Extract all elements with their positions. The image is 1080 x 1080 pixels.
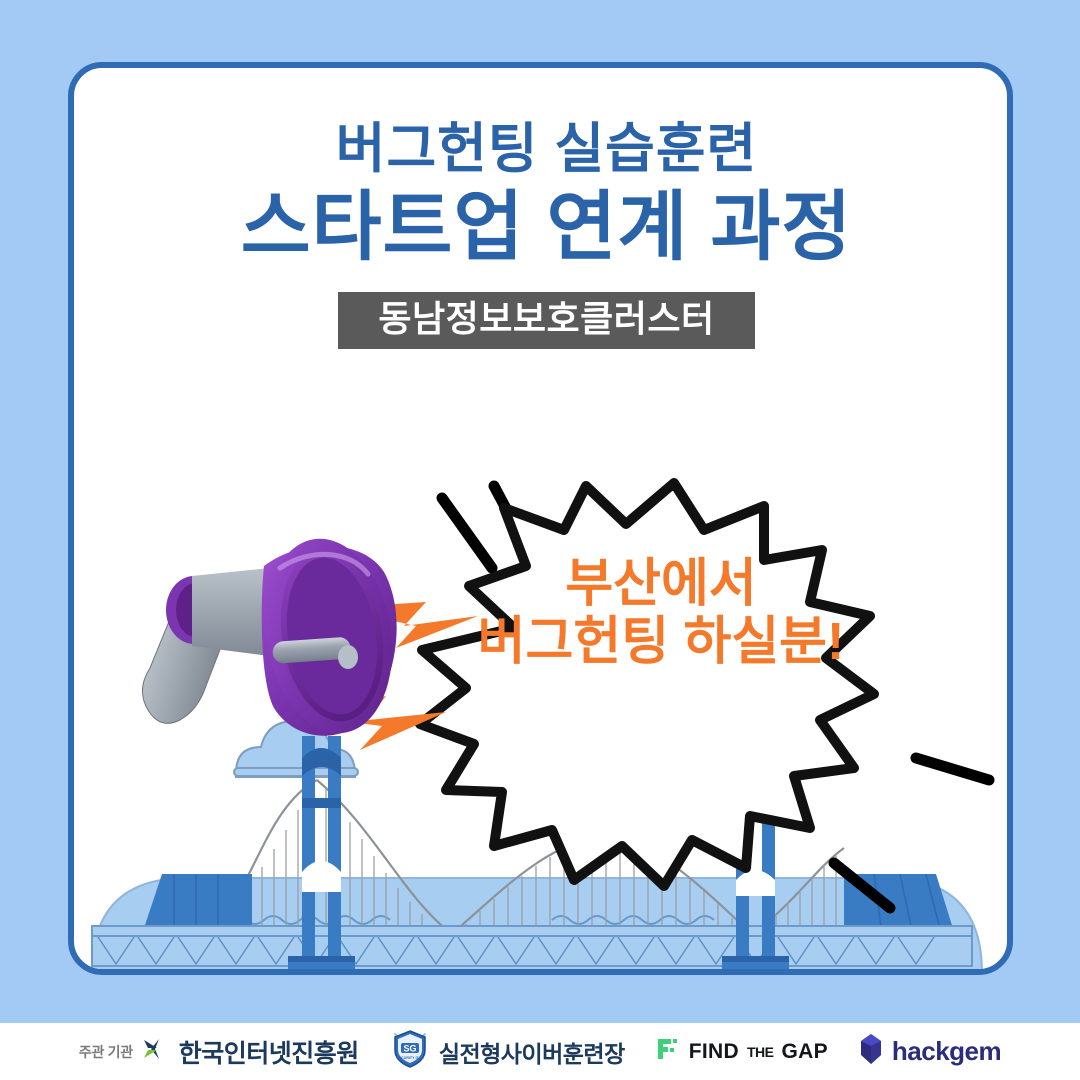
speech-bubble	[420, 483, 874, 886]
poster-title-line2: 스타트업 연계 과정	[74, 190, 1013, 266]
poster-title-line1: 버그헌팅 실습훈련	[74, 122, 1013, 176]
svg-text:SECURITY GYM: SECURITY GYM	[396, 1056, 423, 1060]
footer-sg-group: SG SECURITY GYM 실전형사이버훈련장	[389, 1028, 625, 1075]
findthegap-text-gap: GAP	[781, 1040, 827, 1064]
subtitle-badge: 동남정보보호클러스터	[338, 292, 754, 349]
svg-text:SG: SG	[403, 1044, 416, 1054]
footer-organizer-group: 주관 기관 한국인터넷진흥원	[79, 1034, 359, 1070]
sg-shield-icon: SG SECURITY GYM	[389, 1028, 431, 1075]
sg-logo-text: 실전형사이버훈련장	[439, 1035, 625, 1069]
footer-hackgem-group: hackgem	[858, 1033, 1001, 1070]
hackgem-logo-text: hackgem	[892, 1036, 1001, 1067]
findthegap-text-the: THE	[747, 1044, 774, 1060]
footer-logo-bar: 주관 기관 한국인터넷진흥원 SG SECURITY GYM 실전형사이버훈	[0, 1023, 1080, 1080]
footer-findthegap-group: FIND THE GAP	[655, 1036, 828, 1067]
kisa-logo-text: 한국인터넷진흥원	[179, 1034, 359, 1070]
megaphone-icon	[142, 530, 405, 743]
findthegap-f-mark	[655, 1036, 681, 1067]
poster-card: 버그헌팅 실습훈련 스타트업 연계 과정 동남정보보호클러스터 부산에서 버그헌…	[68, 62, 1013, 975]
findthegap-text-find: FIND	[689, 1040, 739, 1064]
title-block: 버그헌팅 실습훈련 스타트업 연계 과정 동남정보보호클러스터	[74, 68, 1013, 349]
organizer-label: 주관 기관	[79, 1042, 133, 1062]
subtitle-wrap: 동남정보보호클러스터	[74, 292, 1013, 349]
kisa-arrow-mark	[141, 1034, 171, 1069]
hackgem-gem-icon	[858, 1033, 884, 1070]
